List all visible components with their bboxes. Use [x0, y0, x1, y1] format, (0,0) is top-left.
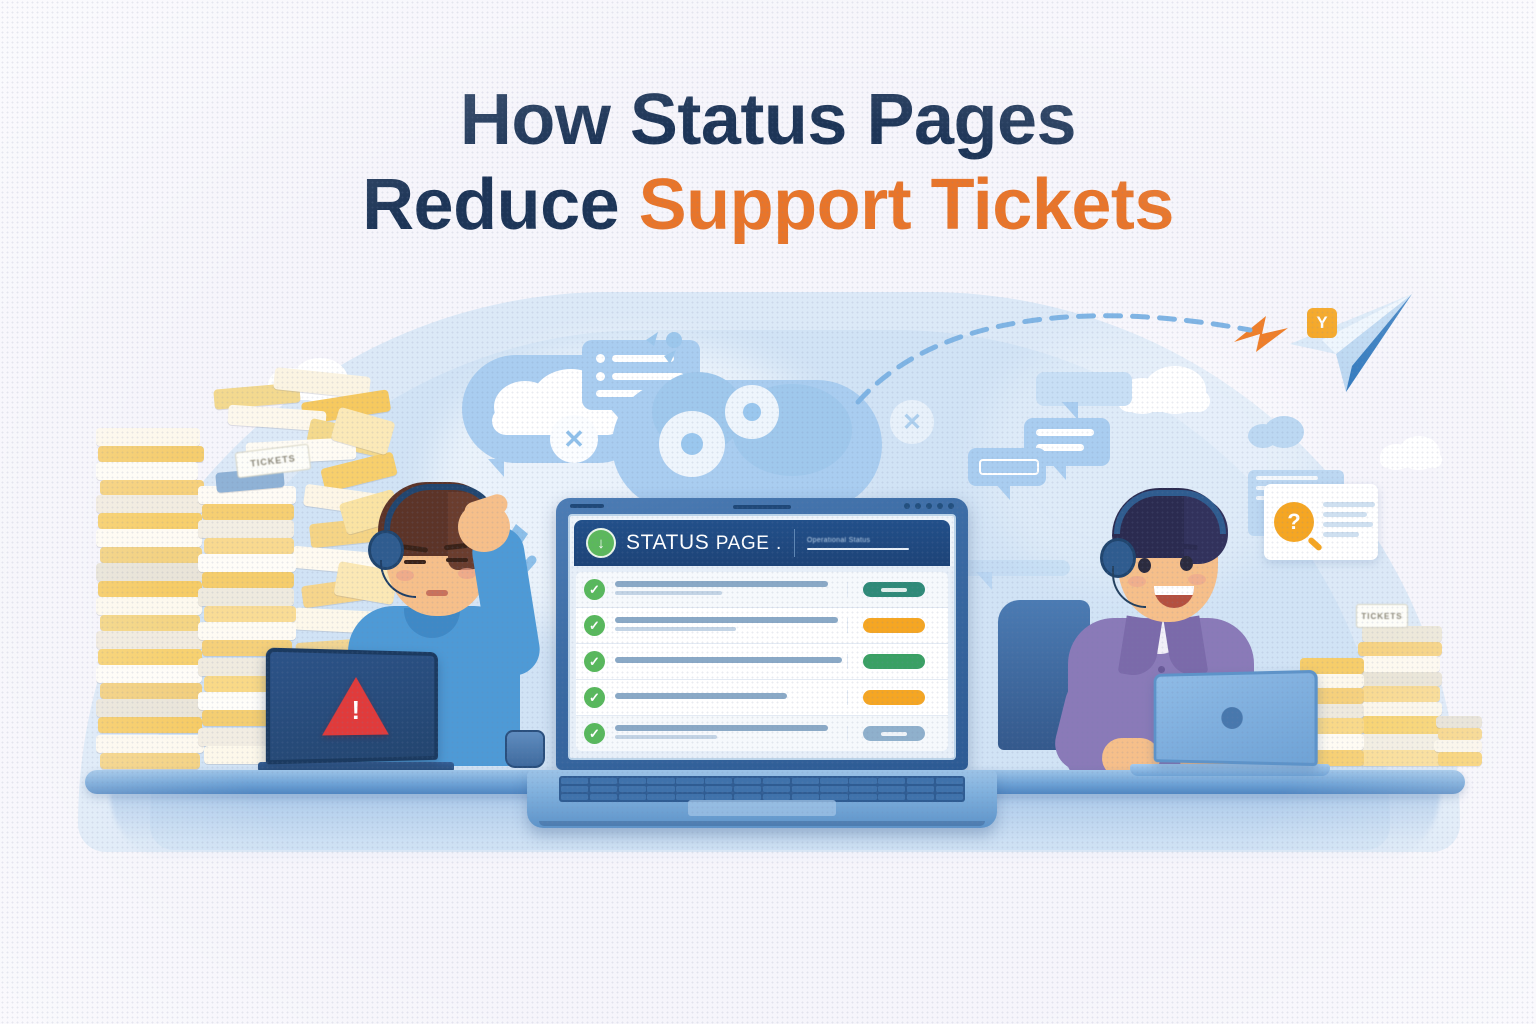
bezel-marker-icon: [570, 504, 604, 508]
status-row-label: [615, 657, 847, 667]
warning-exclaim: !: [352, 697, 361, 723]
status-row[interactable]: ✓: [576, 572, 948, 608]
dashed-trajectory-arc: [850, 300, 1270, 410]
download-circle-icon: ↓: [586, 528, 616, 558]
keyboard-key[interactable]: [763, 786, 790, 792]
ticket-stack-label-right: TICKETS: [1356, 604, 1408, 628]
status-badge-cell: [847, 726, 940, 741]
x-mark-icon: ✕: [550, 415, 598, 463]
status-badge[interactable]: [863, 690, 925, 705]
illustration-canvas: ✕ ✕: [0, 0, 1536, 1024]
laptop-keyboard[interactable]: [559, 776, 965, 802]
keyboard-key[interactable]: [676, 778, 703, 784]
keyboard-key[interactable]: [820, 778, 847, 784]
header-divider: [794, 529, 795, 557]
laptop-base-right: [1130, 764, 1330, 776]
status-row[interactable]: ✓: [576, 644, 948, 680]
status-row-label: [615, 725, 847, 743]
keyboard-key[interactable]: [647, 778, 674, 784]
keyboard-key[interactable]: [561, 786, 588, 792]
center-laptop: ↓ STATUS PAGE . Operational Status ✓✓✓✓✓: [556, 498, 997, 828]
keyboard-key[interactable]: [849, 786, 876, 792]
status-page-rows: ✓✓✓✓✓: [570, 566, 954, 758]
laptop-trackpad[interactable]: [688, 800, 836, 816]
warning-triangle-icon: !: [322, 677, 389, 736]
brand-suffix: .: [776, 533, 782, 554]
check-circle-icon: ✓: [584, 651, 605, 672]
keyboard-key[interactable]: [619, 794, 646, 800]
brand-secondary: PAGE: [716, 533, 770, 554]
headline-block: How Status Pages Reduce Support Tickets: [0, 78, 1536, 248]
keyboard-key[interactable]: [792, 778, 819, 784]
status-badge-cell: [847, 618, 940, 633]
keyboard-key[interactable]: [907, 794, 934, 800]
laptop-base-lip: [539, 821, 985, 826]
status-badge[interactable]: [863, 618, 925, 633]
status-row-label: [615, 617, 847, 635]
status-row[interactable]: ✓: [576, 716, 948, 751]
keyboard-key[interactable]: [936, 786, 963, 792]
headline-line-2-navy: Reduce: [362, 165, 639, 245]
brand-primary: STATUS: [626, 531, 709, 554]
keyboard-key[interactable]: [849, 794, 876, 800]
check-circle-icon: ✓: [584, 723, 605, 744]
status-meta-text: Operational Status: [807, 537, 938, 544]
plane-badge-icon: Y: [1307, 308, 1337, 338]
keyboard-key[interactable]: [878, 794, 905, 800]
keyboard-key[interactable]: [590, 794, 617, 800]
status-meta-rule: [807, 548, 909, 550]
status-page-meta: Operational Status: [807, 537, 938, 550]
webcam-bar-icon: [733, 505, 791, 509]
keyboard-key[interactable]: [936, 778, 963, 784]
status-badge-cell: [847, 582, 940, 597]
keyboard-key[interactable]: [590, 778, 617, 784]
faq-search-card: ?: [1264, 484, 1378, 560]
keyboard-key[interactable]: [734, 778, 761, 784]
paper-plane-icon: [1280, 288, 1420, 398]
faq-card-lines: [1323, 502, 1375, 542]
gear-icon-small: [732, 392, 772, 432]
right-agent-laptop: [1148, 672, 1330, 776]
status-badge-cell: [847, 654, 940, 669]
left-agent-laptop: !: [268, 650, 454, 776]
keyboard-key[interactable]: [734, 786, 761, 792]
status-badge-cell: [847, 690, 940, 705]
keyboard-key[interactable]: [907, 778, 934, 784]
keyboard-key[interactable]: [705, 786, 732, 792]
check-circle-icon: ✓: [584, 579, 605, 600]
keyboard-key[interactable]: [561, 794, 588, 800]
keyboard-key[interactable]: [590, 786, 617, 792]
gear-icon: [666, 418, 718, 470]
laptop-base-center: [527, 770, 997, 828]
keyboard-key[interactable]: [792, 786, 819, 792]
laptop-lid: ↓ STATUS PAGE . Operational Status ✓✓✓✓✓: [556, 498, 968, 770]
check-circle-icon: ✓: [584, 687, 605, 708]
keyboard-key[interactable]: [936, 794, 963, 800]
status-badge[interactable]: [863, 654, 925, 669]
sparkle-icon: [640, 330, 690, 374]
headline-line-2: Reduce Support Tickets: [0, 163, 1536, 248]
check-circle-icon: ✓: [584, 615, 605, 636]
laptop-screen-right: [1154, 670, 1318, 766]
status-page-header: ↓ STATUS PAGE . Operational Status: [574, 520, 950, 566]
bezel-dots-icon: [904, 503, 954, 509]
headset-mic-icon: [380, 560, 416, 598]
keyboard-key[interactable]: [676, 786, 703, 792]
keyboard-key[interactable]: [647, 794, 674, 800]
keyboard-key[interactable]: [705, 778, 732, 784]
magnifier-question-icon: ?: [1274, 502, 1314, 542]
keyboard-key[interactable]: [878, 778, 905, 784]
status-page-brand: STATUS PAGE .: [626, 531, 782, 555]
headset-mic-icon-right: [1112, 566, 1146, 608]
headline-line-1: How Status Pages: [0, 78, 1536, 163]
keyboard-key[interactable]: [619, 786, 646, 792]
status-row[interactable]: ✓: [576, 680, 948, 716]
keyboard-key[interactable]: [820, 786, 847, 792]
laptop-screen-with-alert: !: [266, 648, 438, 765]
keyboard-key[interactable]: [647, 786, 674, 792]
status-badge[interactable]: [863, 726, 925, 741]
mouse-icon: [505, 730, 545, 768]
keyboard-key[interactable]: [763, 778, 790, 784]
status-page-screen: ↓ STATUS PAGE . Operational Status ✓✓✓✓✓: [568, 514, 956, 760]
status-row[interactable]: ✓: [576, 608, 948, 644]
status-badge[interactable]: [863, 582, 925, 597]
keyboard-key[interactable]: [619, 778, 646, 784]
keyboard-key[interactable]: [907, 786, 934, 792]
status-row-label: [615, 581, 847, 599]
status-row-label: [615, 693, 847, 703]
keyboard-key[interactable]: [561, 778, 588, 784]
keyboard-key[interactable]: [849, 778, 876, 784]
laptop-logo-icon: [1221, 707, 1242, 729]
headline-line-2-orange: Support Tickets: [639, 165, 1174, 245]
keyboard-key[interactable]: [878, 786, 905, 792]
